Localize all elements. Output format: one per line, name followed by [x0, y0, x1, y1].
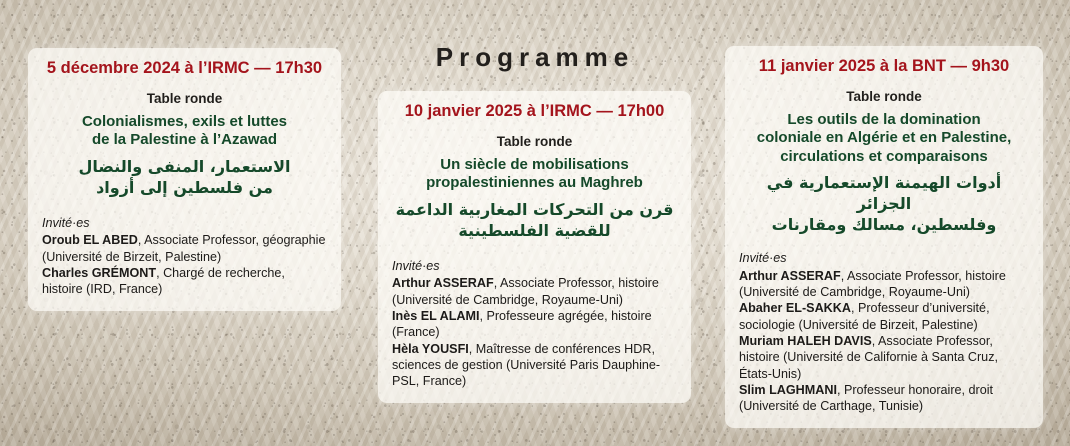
- event-kind-2: Table ronde: [392, 134, 677, 149]
- guest-item: Slim LAGHMANI, Professeur honoraire, dro…: [739, 382, 1029, 415]
- event-title-ar-2-line-1: قرن من التحركات المغاربية الداعمة: [392, 199, 677, 220]
- guest-list-label-3: Invité·es: [739, 250, 1029, 266]
- guest-name: Arthur ASSERAF: [739, 269, 841, 283]
- guest-name: Inès EL ALAMI: [392, 309, 479, 323]
- event-title-fr-3: Les outils de la domination coloniale en…: [739, 111, 1029, 166]
- event-title-ar-1-line-1: الاستعمار، المنفى والنضال: [42, 156, 327, 177]
- guest-list-label-2: Invité·es: [392, 258, 677, 274]
- event-title-fr-3-line-2: coloniale en Algérie et en Palestine,: [739, 129, 1029, 147]
- event-title-fr-3-line-1: Les outils de la domination: [739, 111, 1029, 129]
- event-title-ar-3-line-1: أدوات الهيمنة الإستعمارية في الجزائر: [739, 172, 1029, 214]
- guest-item: Charles GRÉMONT, Chargé de recherche, hi…: [42, 265, 327, 298]
- event-title-fr-2: Un siècle de mobilisations propalestinie…: [392, 156, 677, 193]
- guest-name: Slim LAGHMANI: [739, 383, 837, 397]
- guest-name: Abaher EL-SAKKA: [739, 301, 851, 315]
- event-kind-3: Table ronde: [739, 89, 1029, 104]
- event-title-fr-3-line-3: circulations et comparaisons: [739, 148, 1029, 166]
- guest-item: Inès EL ALAMI, Professeure agrégée, hist…: [392, 308, 677, 341]
- event-title-ar-1: الاستعمار، المنفى والنضال من فلسطين إلى …: [42, 156, 327, 198]
- guest-item: Arthur ASSERAF, Associate Professor, his…: [739, 268, 1029, 301]
- guest-item: Oroub EL ABED, Associate Professor, géog…: [42, 232, 327, 265]
- event-title-fr-2-line-1: Un siècle de mobilisations: [392, 156, 677, 174]
- guest-item: Abaher EL-SAKKA, Professeur d’université…: [739, 300, 1029, 333]
- guest-name: Charles GRÉMONT: [42, 266, 156, 280]
- guest-list-label-1: Invité·es: [42, 215, 327, 231]
- event-card-1: 5 décembre 2024 à l’IRMC — 17h30 Table r…: [28, 48, 341, 311]
- event-card-2: 10 janvier 2025 à l’IRMC — 17h00 Table r…: [378, 91, 691, 403]
- guest-name: Muriam HALEH DAVIS: [739, 334, 872, 348]
- guest-list-3: Invité·es Arthur ASSERAF, Associate Prof…: [739, 250, 1029, 415]
- event-card-3: 11 janvier 2025 à la BNT — 9h30 Table ro…: [725, 46, 1043, 428]
- guest-list-2: Invité·es Arthur ASSERAF, Associate Prof…: [392, 258, 677, 390]
- guest-item: Arthur ASSERAF, Associate Professor, his…: [392, 275, 677, 308]
- programme-poster: Programme 5 décembre 2024 à l’IRMC — 17h…: [0, 0, 1070, 446]
- event-title-fr-1-line-2: de la Palestine à l’Azawad: [42, 131, 327, 149]
- event-title-ar-2: قرن من التحركات المغاربية الداعمة للقضية…: [392, 199, 677, 241]
- guest-name: Arthur ASSERAF: [392, 276, 494, 290]
- event-title-fr-2-line-2: propalestiniennes au Maghreb: [392, 174, 677, 192]
- guest-item: Hèla YOUSFI, Maîtresse de conférences HD…: [392, 341, 677, 390]
- event-kind-1: Table ronde: [42, 91, 327, 106]
- event-date-2: 10 janvier 2025 à l’IRMC — 17h00: [392, 102, 677, 121]
- event-title-fr-1-line-1: Colonialismes, exils et luttes: [42, 113, 327, 131]
- page-title: Programme: [0, 42, 1070, 73]
- guest-item: Muriam HALEH DAVIS, Associate Professor,…: [739, 333, 1029, 382]
- event-title-fr-1: Colonialismes, exils et luttes de la Pal…: [42, 113, 327, 150]
- event-title-ar-3: أدوات الهيمنة الإستعمارية في الجزائر وفل…: [739, 172, 1029, 235]
- event-title-ar-2-line-2: للقضية الفلسطينية: [392, 220, 677, 241]
- event-title-ar-3-line-2: وفلسطين، مسالك ومقارنات: [739, 214, 1029, 235]
- guest-name: Oroub EL ABED: [42, 233, 138, 247]
- guest-list-1: Invité·es Oroub EL ABED, Associate Profe…: [42, 215, 327, 298]
- event-title-ar-1-line-2: من فلسطين إلى أزواد: [42, 177, 327, 198]
- guest-name: Hèla YOUSFI: [392, 342, 469, 356]
